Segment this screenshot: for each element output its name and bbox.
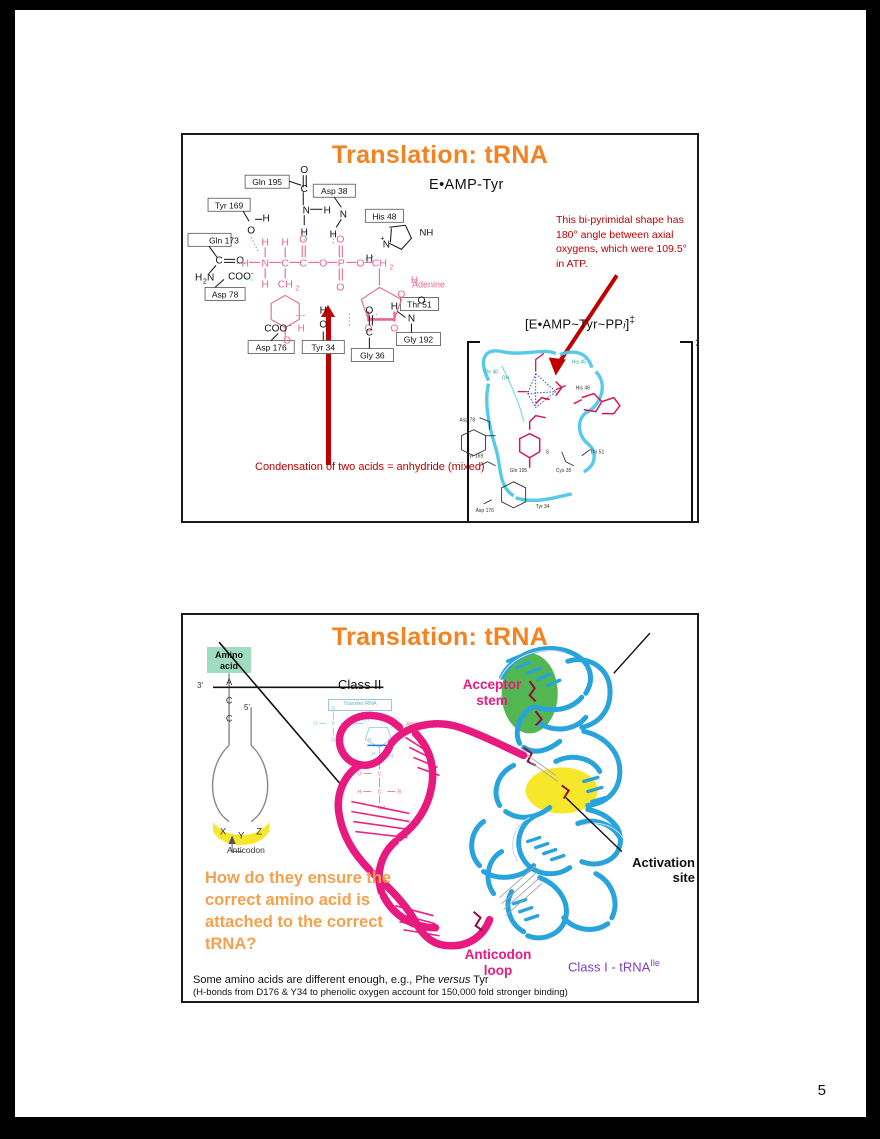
svg-text:His 45: His 45 <box>572 360 586 366</box>
svg-text:Thr 51: Thr 51 <box>590 450 605 456</box>
svg-text:Asp 78: Asp 78 <box>460 418 476 424</box>
svg-text:Gln 195: Gln 195 <box>510 468 528 474</box>
footnote-line-1: Some amino acids are different enough, e… <box>193 974 687 986</box>
page-number: 5 <box>818 1082 826 1099</box>
svg-text:S: S <box>546 450 550 456</box>
class-1-superscript: Ile <box>650 958 660 968</box>
class-1-label: Class I - tRNAIle <box>568 958 660 974</box>
svg-text:Asp 176: Asp 176 <box>476 508 495 514</box>
guiding-question: How do they ensure the correct amino aci… <box>205 867 420 955</box>
slide-page: Translation: tRNA E•AMP-Tyr This bi-pyri… <box>15 10 866 1117</box>
activation-site-label: Activation site <box>623 855 695 885</box>
footnote-line-1-pre: Some amino acids are different enough, e… <box>193 974 438 986</box>
slide-1: Translation: tRNA E•AMP-Tyr This bi-pyri… <box>181 133 699 523</box>
slide-2-footnote: Some amino acids are different enough, e… <box>183 974 697 998</box>
transition-state-inset: Thr 40 OH His 45 His 48 Asp 78 Tyr 169 G… <box>183 135 697 521</box>
svg-text:Tyr 34: Tyr 34 <box>536 504 550 510</box>
acceptor-stem-label: Acceptor stem <box>447 677 537 709</box>
svg-text:His 48: His 48 <box>576 386 590 392</box>
svg-text:Thr 40: Thr 40 <box>484 370 499 376</box>
footnote-line-1-italic: versus <box>438 974 470 986</box>
class-1-text: Class I - tRNA <box>568 959 650 974</box>
svg-text:OH: OH <box>502 376 510 382</box>
footnote-line-1-post: Tyr <box>470 974 488 986</box>
footnote-line-2: (H-bonds from D176 & Y34 to phenolic oxy… <box>193 987 687 998</box>
svg-text:Tyr 169: Tyr 169 <box>467 454 484 460</box>
svg-text:Cys 35: Cys 35 <box>556 468 572 474</box>
slide-2: Translation: tRNA Amino acid 3' 5' Antic… <box>181 613 699 1003</box>
